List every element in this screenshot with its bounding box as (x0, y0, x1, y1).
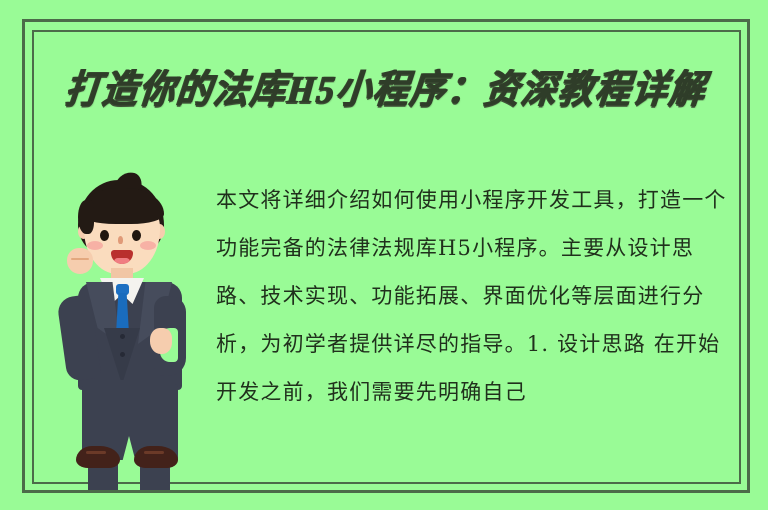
page-title-container: 打造你的法库H5小程序：资深教程详解 (32, 52, 740, 120)
jacket-button-bottom-icon (120, 352, 125, 357)
shoe-strap-left-icon (86, 451, 106, 454)
eye-left-icon (100, 230, 109, 241)
cheek-blush-left-icon (87, 241, 103, 250)
jacket-button-top-icon (120, 334, 125, 339)
hair-sideburn-icon (78, 200, 94, 234)
shoe-strap-right-icon (144, 451, 164, 454)
eye-right-icon (132, 230, 141, 241)
raised-fist-icon (67, 248, 93, 274)
smiling-mouth-icon (111, 250, 133, 264)
shoe-left-icon (76, 446, 120, 468)
poster-canvas: 打造你的法库H5小程序：资深教程详解 (0, 0, 768, 510)
businessman-illustration (56, 178, 206, 483)
nose-icon (118, 236, 123, 244)
fist-knuckle-line-icon (71, 258, 89, 260)
article-body: 本文将详细介绍如何使用小程序开发工具，打造一个功能完备的法律法规库H5小程序。主… (216, 176, 728, 416)
shoe-right-icon (134, 446, 178, 468)
page-title: 打造你的法库H5小程序：资深教程详解 (63, 57, 710, 114)
hand-on-hip-icon (150, 328, 172, 354)
cheek-blush-right-icon (140, 241, 156, 250)
